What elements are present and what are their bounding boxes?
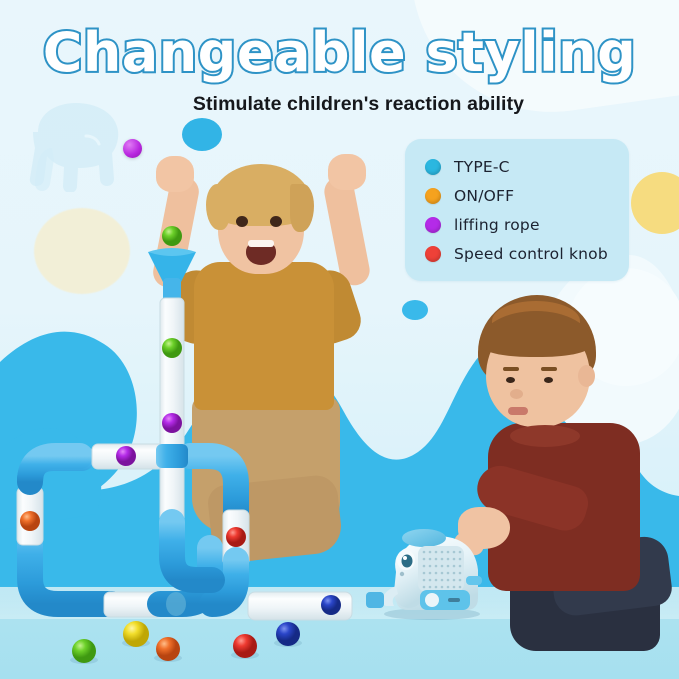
ball-green-mid xyxy=(162,338,182,358)
ball-purple-cross xyxy=(116,446,136,466)
pipe-to-elephant xyxy=(232,592,376,620)
marble-run-pipe-assembly xyxy=(0,0,679,679)
ball-red-right xyxy=(226,527,246,547)
product-promo-image: Changeable styling Stimulate children's … xyxy=(0,0,679,679)
floor-ball-orange xyxy=(156,637,180,661)
elephant-base-unit[interactable] xyxy=(362,520,492,620)
elephant-button-slot xyxy=(448,598,460,602)
ball-blue-trunk xyxy=(321,595,341,615)
elephant-button-round xyxy=(425,593,439,607)
floor-ball-green xyxy=(72,639,96,663)
elephant-trunk-connector xyxy=(366,592,384,608)
ball-orange-left xyxy=(20,511,40,531)
ball-purple-tube xyxy=(162,413,182,433)
elephant-ear xyxy=(402,529,446,547)
floor-marbles xyxy=(70,621,302,664)
ball-green-upper xyxy=(162,226,182,246)
floor-ball-blue xyxy=(276,622,300,646)
elephant-cheek-dot xyxy=(400,572,404,576)
pipe-center-vertical xyxy=(148,248,212,580)
elephant-rear-accent xyxy=(466,576,482,585)
floor-ball-yellow xyxy=(123,621,149,647)
floor-ball-red xyxy=(233,634,257,658)
